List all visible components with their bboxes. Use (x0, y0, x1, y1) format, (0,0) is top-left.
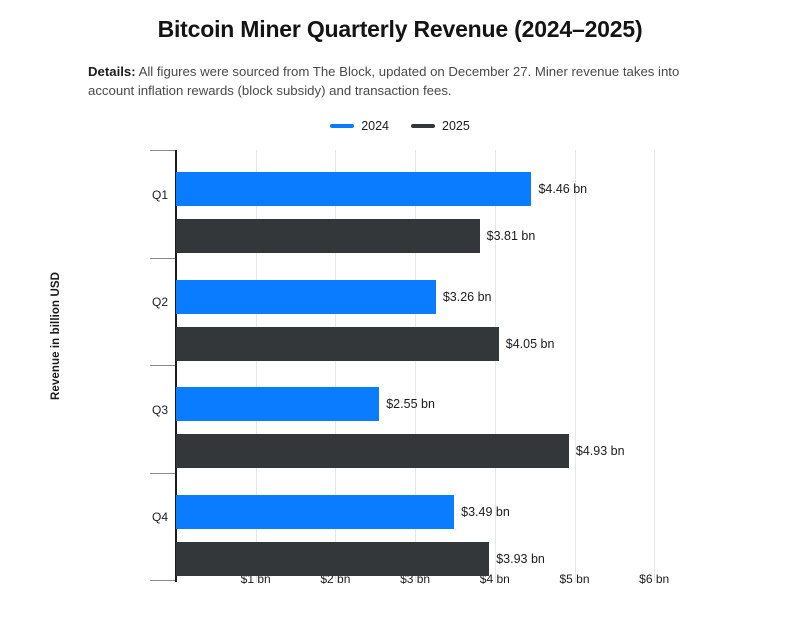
bar-Q3-2024[interactable] (176, 387, 379, 421)
x-tick-label: $5 bn (535, 572, 615, 586)
x-tick-label: $6 bn (614, 572, 694, 586)
plot-area: Revenue in billion USD $1 bn$2 bn$3 bn$4… (0, 0, 800, 624)
bar-value-label-Q4-2024: $3.49 bn (461, 495, 510, 529)
y-category-label-Q1: Q1 (120, 188, 168, 202)
y-axis-title: Revenue in billion USD (50, 236, 62, 436)
bar-value-label-Q3-2024: $2.55 bn (386, 387, 435, 421)
bar-value-label-Q4-2025: $3.93 bn (496, 542, 545, 576)
bar-value-label-Q2-2025: $4.05 bn (506, 327, 555, 361)
x-gridline (575, 150, 576, 582)
y-category-label-Q2: Q2 (120, 295, 168, 309)
chart-page: Bitcoin Miner Quarterly Revenue (2024–20… (0, 0, 800, 624)
bar-Q4-2025[interactable] (176, 542, 489, 576)
bar-Q2-2025[interactable] (176, 327, 499, 361)
y-axis-tick (150, 580, 175, 581)
x-gridline (654, 150, 655, 582)
y-axis-tick (150, 258, 175, 259)
y-axis-tick (150, 473, 175, 474)
bar-Q1-2024[interactable] (176, 172, 531, 206)
bar-Q3-2025[interactable] (176, 434, 569, 468)
bar-Q2-2024[interactable] (176, 280, 436, 314)
y-axis-tick (150, 365, 175, 366)
y-category-label-Q3: Q3 (120, 403, 168, 417)
bar-Q4-2024[interactable] (176, 495, 454, 529)
y-category-label-Q4: Q4 (120, 510, 168, 524)
bar-Q1-2025[interactable] (176, 219, 480, 253)
bar-value-label-Q1-2025: $3.81 bn (487, 219, 536, 253)
y-axis-tick (150, 150, 175, 151)
bar-value-label-Q2-2024: $3.26 bn (443, 280, 492, 314)
bar-value-label-Q1-2024: $4.46 bn (538, 172, 587, 206)
bar-value-label-Q3-2025: $4.93 bn (576, 434, 625, 468)
